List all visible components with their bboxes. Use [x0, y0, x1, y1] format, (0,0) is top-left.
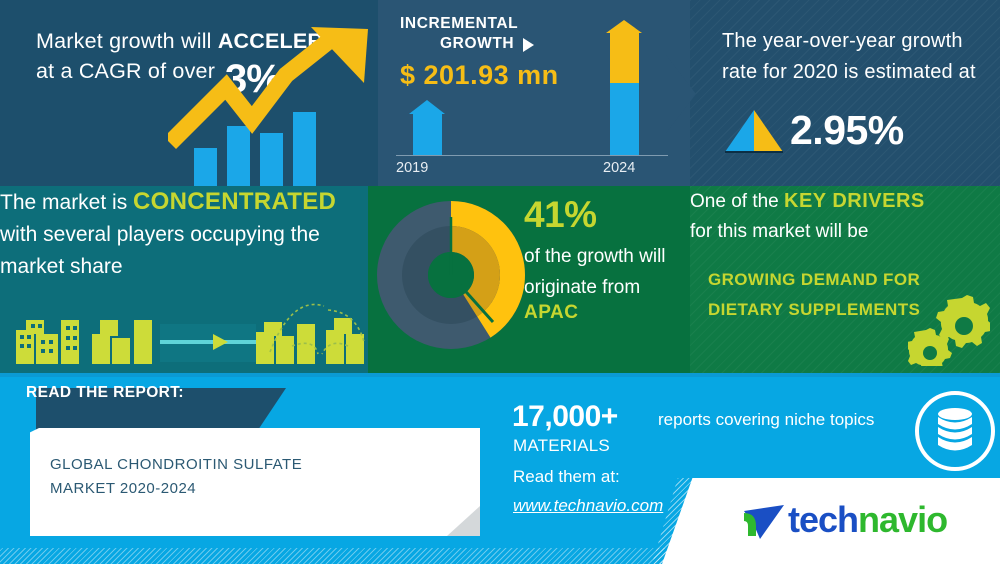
concentration-line2: with several players occupying the: [0, 223, 320, 246]
report-title: GLOBAL CHONDROITIN SULFATE MARKET 2020-2…: [50, 453, 430, 501]
gears-icon: [908, 294, 990, 366]
concentration-plain: The market is: [0, 191, 133, 214]
bottom-banner: READ THE REPORT: GLOBAL CHONDROITIN SULF…: [0, 373, 1000, 564]
reports-count-caption: reports covering niche topics: [658, 410, 874, 430]
report-title-line1: GLOBAL CHONDROITIN SULFATE: [50, 456, 302, 473]
concentration-highlight: CONCENTRATED: [133, 188, 336, 215]
panel-yoy-growth: The year-over-year growth rate for 2020 …: [690, 0, 1000, 186]
yoy-headline-line1: The year-over-year growth: [722, 30, 963, 52]
panel-market-growth-cagr: Market growth will ACCELERATE at a CAGR …: [0, 0, 378, 186]
driver-text-line1: GROWING DEMAND FOR: [708, 270, 920, 290]
incremental-title-line2: GROWTH: [440, 34, 514, 54]
report-title-line2: MARKET 2020-2024: [50, 480, 196, 497]
panel-apac-share: 41% of the growth will originate from AP…: [368, 186, 690, 373]
read-the-report-label: READ THE REPORT:: [26, 384, 184, 402]
bar-2019: [413, 113, 442, 155]
incremental-growth-title: INCREMENTAL GROWTH: [400, 14, 580, 54]
x-label-2019: 2019: [396, 160, 428, 176]
apac-highlight: APAC: [524, 302, 578, 324]
panel-incremental-growth: INCREMENTAL GROWTH $ 201.93 mn 2019 2024: [378, 0, 690, 186]
materials-label: MATERIALS: [513, 436, 610, 456]
yoy-value: 2.95%: [790, 107, 904, 154]
apac-line2: originate from: [524, 277, 640, 298]
bar-2019-head: [409, 100, 445, 114]
apac-value: 41%: [524, 194, 597, 236]
network-arcs-icon: [252, 294, 368, 364]
yoy-headline: The year-over-year growth rate for 2020 …: [722, 26, 987, 88]
logo-wordmark: technavio: [788, 499, 947, 541]
yoy-headline-line2: rate for 2020 is estimated at: [722, 61, 976, 83]
apac-line1: of the growth will: [524, 246, 666, 267]
logo-text-navio: navio: [858, 499, 947, 540]
panel-market-concentration: The market is CONCENTRATED with several …: [0, 186, 368, 373]
concentration-headline: The market is CONCENTRATED with several …: [0, 186, 340, 283]
bar-2024-incremental: [610, 32, 639, 83]
apac-description: of the growth will originate from: [524, 241, 690, 303]
reports-count: 17,000+: [512, 400, 618, 434]
paper-plane-icon: [740, 501, 788, 543]
play-triangle-icon: [523, 38, 534, 52]
triangle-up-icon: [723, 108, 785, 154]
website-link[interactable]: www.technavio.com: [513, 496, 663, 516]
read-them-at-label: Read them at:: [513, 467, 620, 487]
panel-key-drivers: One of the KEY DRIVERS for this market w…: [690, 186, 1000, 373]
concentration-line3: market share: [0, 255, 123, 278]
incremental-growth-value: $ 201.93 mn: [400, 60, 559, 91]
driver-text-line2: DIETARY SUPPLEMENTS: [708, 300, 920, 320]
database-circle-icon: [915, 391, 995, 471]
rising-arrow-icon: [168, 25, 378, 165]
chart-axis-line: [396, 155, 668, 156]
apac-donut-chart: [376, 200, 526, 350]
infographic-root: Market growth will ACCELERATE at a CAGR …: [0, 0, 1000, 564]
banner-bottom-texture: [0, 548, 1000, 564]
incremental-title-line1: INCREMENTAL: [400, 15, 518, 32]
bar-2024-base: [610, 83, 639, 155]
logo-text-tech: tech: [788, 499, 858, 540]
x-label-2024: 2024: [603, 160, 635, 176]
banner-top-stripe: [0, 373, 1000, 377]
